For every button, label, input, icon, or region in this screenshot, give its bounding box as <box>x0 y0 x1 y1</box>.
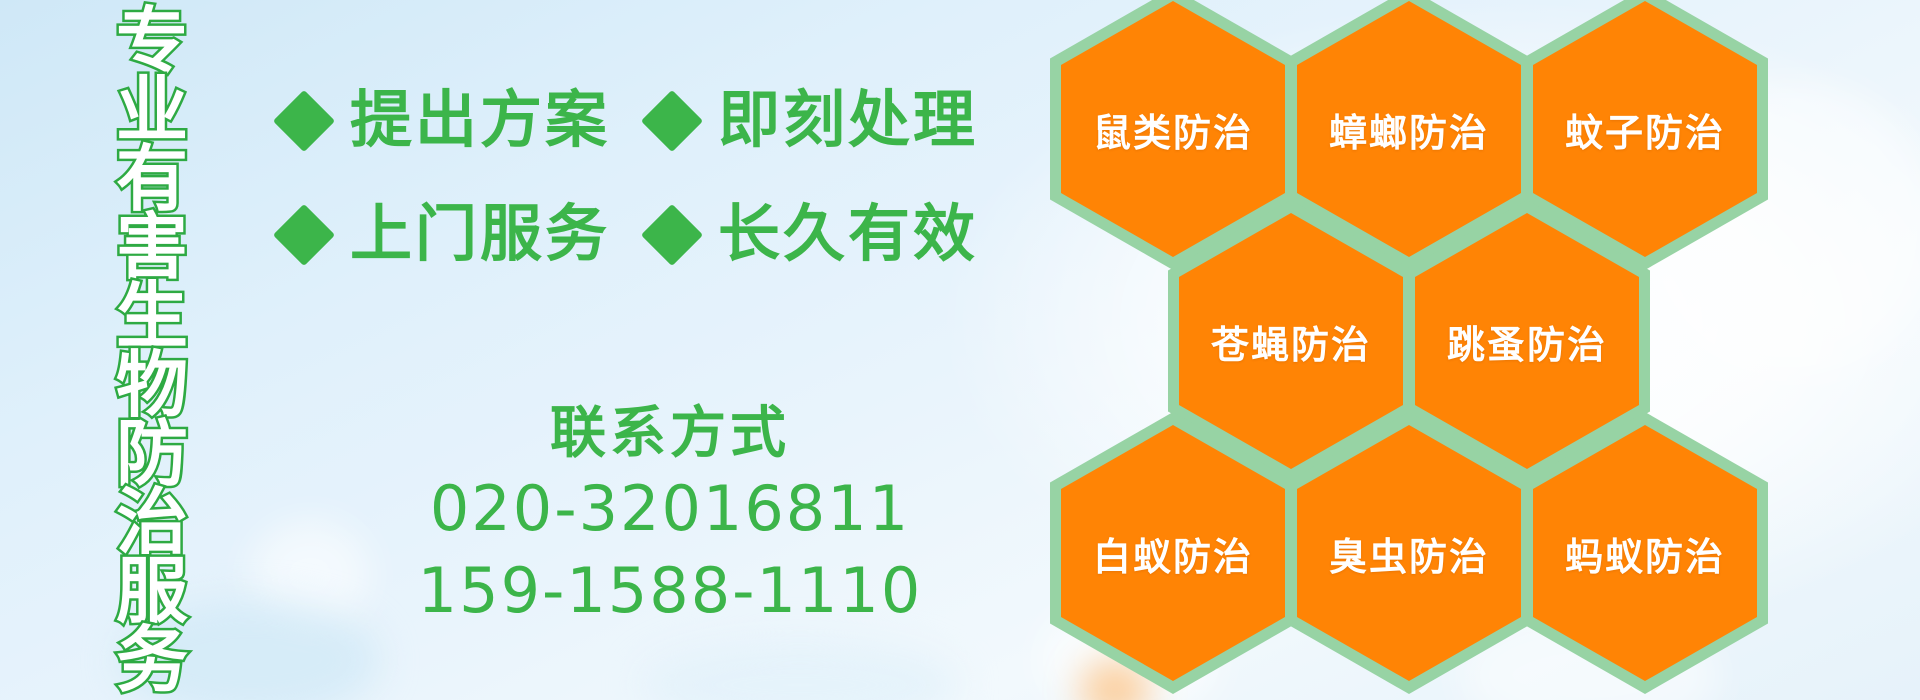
phone-mobile[interactable]: 159-1588-1110 <box>290 550 1050 632</box>
service-hex-termite[interactable]: 白蚁防治 <box>1050 412 1296 694</box>
service-label: 鼠类防治 <box>1093 102 1253 157</box>
phone-landline[interactable]: 020-32016811 <box>290 468 1050 550</box>
feature-item: 即刻处理 <box>650 90 978 152</box>
feature-row: 提出方案 即刻处理 <box>282 90 1082 152</box>
background-bokeh <box>640 640 960 700</box>
vertical-title-char: 生 <box>116 283 188 352</box>
vertical-title-char: 务 <box>116 627 188 696</box>
contact-title: 联系方式 <box>290 398 1050 468</box>
vertical-title-char: 物 <box>116 352 188 421</box>
feature-label: 即刻处理 <box>718 90 978 152</box>
contact-block: 联系方式 020-32016811 159-1588-1110 <box>290 398 1050 632</box>
diamond-icon <box>273 90 335 152</box>
vertical-title: 专 业 有 害 生 物 防 治 服 务 <box>106 8 198 692</box>
diamond-icon <box>641 90 703 152</box>
feature-label: 长久有效 <box>718 204 978 266</box>
service-label: 蚊子防治 <box>1565 102 1725 157</box>
feature-item: 提出方案 <box>282 90 610 152</box>
service-label: 蚂蚁防治 <box>1565 526 1725 581</box>
feature-label: 提出方案 <box>350 90 610 152</box>
vertical-title-char: 害 <box>116 214 188 283</box>
service-label: 白蚁防治 <box>1093 526 1253 581</box>
service-label: 苍蝇防治 <box>1211 314 1371 369</box>
pest-control-banner: 专 业 有 害 生 物 防 治 服 务 提出方案 即刻处理 上门服务 <box>0 0 1920 700</box>
vertical-title-char: 有 <box>116 146 188 215</box>
vertical-title-char: 服 <box>116 558 188 627</box>
vertical-title-char: 专 <box>116 8 188 77</box>
service-hex-ant[interactable]: 蚂蚁防治 <box>1522 412 1768 694</box>
feature-list: 提出方案 即刻处理 上门服务 长久有效 <box>282 90 1082 318</box>
service-label: 跳蚤防治 <box>1447 314 1607 369</box>
service-hex-bedbug[interactable]: 臭虫防治 <box>1286 412 1532 694</box>
diamond-icon <box>273 204 335 266</box>
feature-item: 上门服务 <box>282 204 610 266</box>
service-honeycomb: 鼠类防治 蟑螂防治 蚊子防治 苍蝇防治 跳蚤防治 白蚁防治 <box>1050 0 1840 700</box>
diamond-icon <box>641 204 703 266</box>
service-label: 臭虫防治 <box>1329 526 1489 581</box>
vertical-title-char: 防 <box>116 421 188 490</box>
feature-row: 上门服务 长久有效 <box>282 204 1082 266</box>
feature-label: 上门服务 <box>350 204 610 266</box>
vertical-title-char: 治 <box>116 489 188 558</box>
service-label: 蟑螂防治 <box>1329 102 1489 157</box>
vertical-title-char: 业 <box>116 77 188 146</box>
feature-item: 长久有效 <box>650 204 978 266</box>
